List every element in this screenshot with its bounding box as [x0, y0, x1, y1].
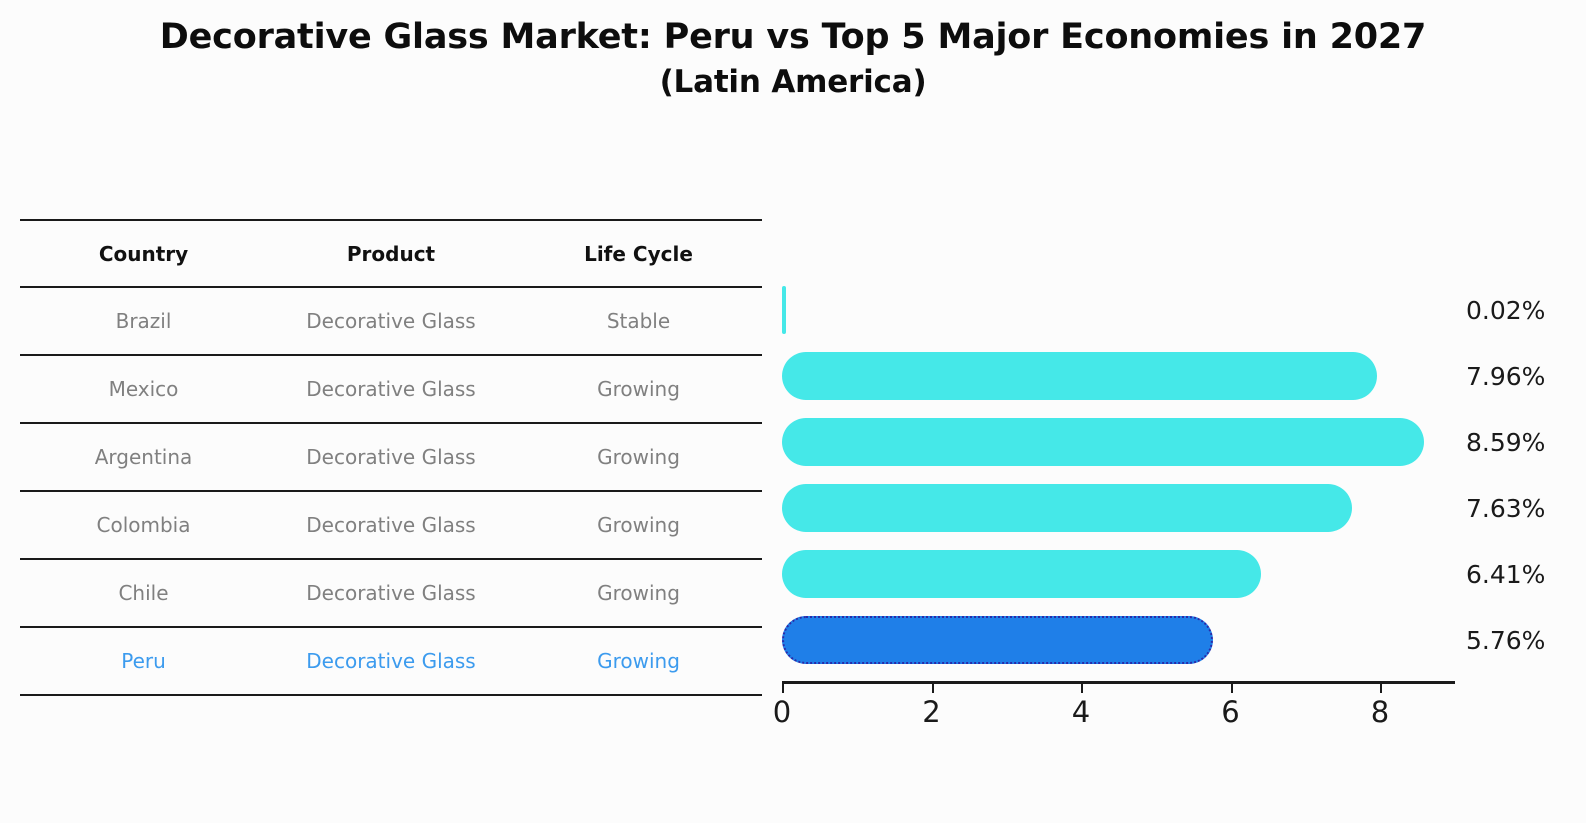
- bar-row: 7.63%: [782, 484, 1455, 532]
- table-cell-product: Decorative Glass: [267, 559, 515, 627]
- column-header-country: Country: [20, 220, 267, 287]
- bar-row: 6.41%: [782, 550, 1455, 598]
- column-header-product: Product: [267, 220, 515, 287]
- table-cell-product: Decorative Glass: [267, 423, 515, 491]
- bar-value-label: 0.02%: [1466, 296, 1545, 325]
- table-row: ChileDecorative GlassGrowing: [20, 559, 762, 627]
- bar: [782, 418, 1424, 466]
- comparison-table: Country Product Life Cycle BrazilDecorat…: [20, 219, 762, 696]
- bar-highlighted: [782, 616, 1213, 664]
- table-cell-country: Peru: [20, 627, 267, 695]
- bar-value-label: 5.76%: [1466, 626, 1545, 655]
- bar-row: 5.76%: [782, 616, 1455, 664]
- table-cell-product: Decorative Glass: [267, 287, 515, 355]
- bar-value-label: 6.41%: [1466, 560, 1545, 589]
- table-cell-life-cycle: Growing: [515, 355, 762, 423]
- bar-row: 7.96%: [782, 352, 1455, 400]
- column-header-life-cycle: Life Cycle: [515, 220, 762, 287]
- table-cell-country: Brazil: [20, 287, 267, 355]
- x-axis-tick: [782, 684, 784, 693]
- chart-title-line-2: (Latin America): [0, 60, 1586, 104]
- table-cell-life-cycle: Growing: [515, 559, 762, 627]
- comparison-table-container: Country Product Life Cycle BrazilDecorat…: [20, 219, 762, 696]
- x-axis-tick-label: 8: [1350, 695, 1410, 729]
- chart-title: Decorative Glass Market: Peru vs Top 5 M…: [0, 14, 1586, 104]
- x-axis-tick: [1081, 684, 1083, 693]
- bar-row: 8.59%: [782, 418, 1455, 466]
- bar-value-label: 7.96%: [1466, 362, 1545, 391]
- chart-title-line-1: Decorative Glass Market: Peru vs Top 5 M…: [0, 14, 1586, 60]
- table-cell-country: Colombia: [20, 491, 267, 559]
- table-cell-life-cycle: Stable: [515, 287, 762, 355]
- x-axis-tick-label: 2: [902, 695, 962, 729]
- bar-row: 0.02%: [782, 286, 1455, 334]
- table-body: BrazilDecorative GlassStableMexicoDecora…: [20, 287, 762, 695]
- table-cell-product: Decorative Glass: [267, 627, 515, 695]
- x-axis-tick: [932, 684, 934, 693]
- table-cell-life-cycle: Growing: [515, 627, 762, 695]
- bar: [782, 352, 1377, 400]
- x-axis-tick: [1380, 684, 1382, 693]
- bar: [782, 550, 1261, 598]
- x-axis-tick: [1231, 684, 1233, 693]
- plot-area: 0.02%7.96%8.59%7.63%6.41%5.76%: [782, 286, 1455, 682]
- table-header-row: Country Product Life Cycle: [20, 220, 762, 287]
- table-cell-country: Argentina: [20, 423, 267, 491]
- table-row: ArgentinaDecorative GlassGrowing: [20, 423, 762, 491]
- table-cell-product: Decorative Glass: [267, 491, 515, 559]
- x-axis-line: [782, 681, 1455, 684]
- x-axis-tick-label: 0: [752, 695, 812, 729]
- table-cell-product: Decorative Glass: [267, 355, 515, 423]
- x-axis-tick-label: 6: [1201, 695, 1261, 729]
- table-header: Country Product Life Cycle: [20, 220, 762, 287]
- table-row: ColombiaDecorative GlassGrowing: [20, 491, 762, 559]
- bar-value-label: 8.59%: [1466, 428, 1545, 457]
- x-axis-tick-label: 4: [1051, 695, 1111, 729]
- table-cell-country: Chile: [20, 559, 267, 627]
- bar-value-label: 7.63%: [1466, 494, 1545, 523]
- table-cell-life-cycle: Growing: [515, 491, 762, 559]
- bar: [782, 286, 786, 334]
- table-row: BrazilDecorative GlassStable: [20, 287, 762, 355]
- table-cell-life-cycle: Growing: [515, 423, 762, 491]
- table-row: PeruDecorative GlassGrowing: [20, 627, 762, 695]
- bar: [782, 484, 1352, 532]
- table-row: MexicoDecorative GlassGrowing: [20, 355, 762, 423]
- table-cell-country: Mexico: [20, 355, 267, 423]
